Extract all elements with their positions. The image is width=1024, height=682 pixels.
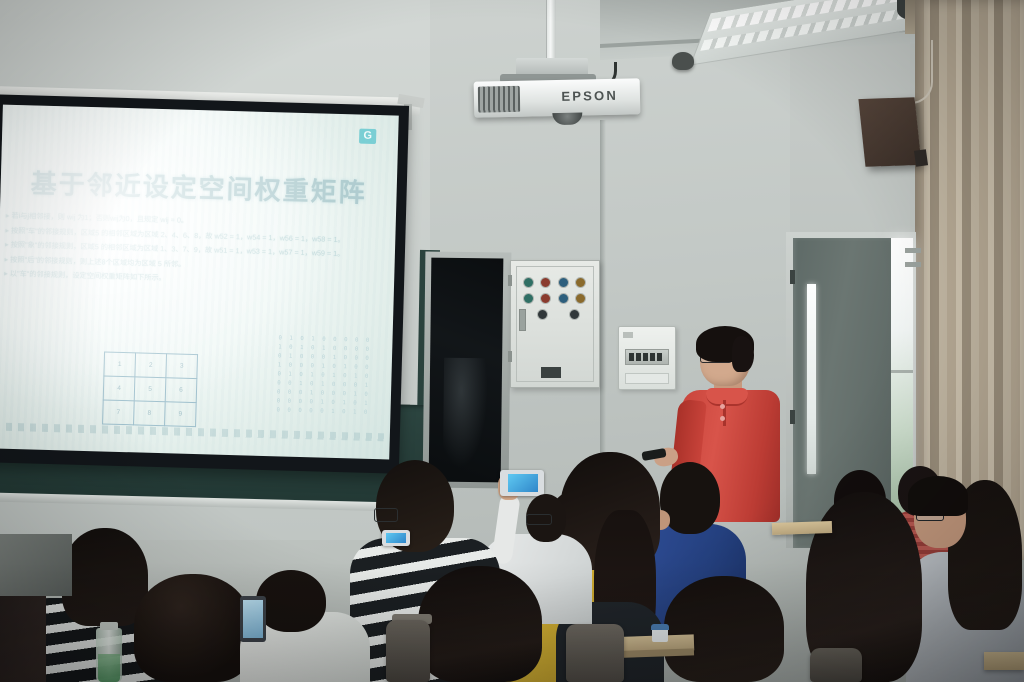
matrix-row: 0 0 0 0 0 1 0 1 0 [276, 407, 369, 419]
bottle-cap[interactable] [100, 622, 118, 630]
presenter-button [720, 404, 725, 409]
student-curly-left [134, 574, 252, 682]
indicator-lamp-green [523, 293, 534, 304]
grid-cell: 7 [103, 400, 135, 425]
meter-terminal-cover [625, 373, 669, 384]
projector-brand-label: EPSON [561, 88, 618, 104]
meter-terminal [623, 332, 633, 338]
ceiling-sensor-icon [672, 52, 694, 70]
student-back-center [664, 576, 784, 682]
dark-alcove [429, 258, 504, 483]
speaker-bracket [914, 149, 928, 167]
chair-back [810, 648, 862, 682]
water-bottle[interactable] [96, 628, 122, 682]
panel-hinge-icon [508, 351, 512, 362]
slide-logo-icon: G [359, 129, 376, 144]
slide-bullet-list: 若i与j相邻接，则 wij 为1；否则wij为0，且规定 wij = 0。 按照… [4, 210, 378, 293]
grid-cell: 1 [104, 352, 136, 377]
indicator-lamp-red [540, 293, 551, 304]
student-desk [984, 652, 1024, 670]
meter-digit [636, 353, 641, 361]
meter-digit [629, 353, 634, 361]
smartphone-secondary[interactable] [382, 530, 410, 546]
meter-digit [643, 353, 648, 361]
indicator-lamp-blue [558, 277, 569, 288]
presenter-button [720, 416, 725, 421]
student-hair [664, 576, 784, 682]
panel-knob[interactable] [537, 309, 548, 320]
grid-cell: 8 [134, 401, 166, 426]
door-hinge-icon [790, 270, 795, 284]
wall-fixture [905, 262, 921, 267]
door-glass-strip [807, 284, 816, 474]
student-head [256, 570, 326, 632]
classroom-photo: EPSON G 基于邻近设定空间权重矩阵 若i与j相邻接，则 wij 为1；否则… [0, 0, 1024, 682]
meter-digit [657, 353, 662, 361]
chair-back [566, 624, 624, 682]
speaker-cable [905, 40, 933, 104]
side-cabinet [0, 534, 72, 596]
panel-indicator-lights [523, 277, 587, 304]
student-hair [418, 566, 542, 682]
eyeglasses-icon [526, 514, 552, 525]
cup-lid [651, 624, 669, 630]
electrical-panel[interactable] [510, 260, 600, 388]
grid-cell: 5 [134, 377, 166, 402]
slide-weight-matrix: 0 1 0 1 0 0 0 0 0 1 0 1 0 1 0 0 0 0 0 1 … [276, 334, 371, 418]
grid-row: 4 5 6 [103, 376, 197, 403]
smartphone[interactable] [500, 470, 544, 496]
cup[interactable] [652, 628, 668, 642]
grid-row: 1 2 3 [104, 352, 198, 379]
indicator-lamp-blue [558, 293, 569, 304]
grid-cell: 3 [166, 354, 198, 379]
student-desk [772, 521, 832, 535]
indicator-lamp-red [540, 277, 551, 288]
grid-cell: 6 [165, 378, 197, 403]
slide-region-grid: 1 2 3 4 5 6 7 8 9 [102, 351, 198, 427]
student-gray-right [906, 470, 1024, 682]
student-hair [134, 574, 252, 682]
projected-slide: G 基于邻近设定空间权重矩阵 若i与j相邻接，则 wij 为1；否则wij为0，… [0, 105, 399, 460]
panel-nameplate [541, 367, 561, 378]
tablet-device[interactable] [240, 596, 266, 642]
bottle-liquid [98, 654, 120, 682]
wall-fixture [905, 248, 921, 253]
phone-screen [508, 474, 538, 492]
grid-cell: 4 [103, 376, 135, 401]
eyeglasses-icon [374, 508, 398, 522]
grid-cell: 2 [135, 353, 167, 378]
panel-hinge-icon [508, 275, 512, 286]
panel-knob[interactable] [569, 309, 580, 320]
projector-vent-icon [478, 86, 521, 113]
projection-screen: G 基于邻近设定空间权重矩阵 若i与j相邻接，则 wij 为1；否则wij为0，… [0, 94, 409, 474]
door-hinge-icon [790, 410, 795, 424]
indicator-lamp-amber [575, 293, 586, 304]
slide-title: 基于邻近设定空间权重矩阵 [30, 163, 361, 209]
presenter-hair-side [732, 336, 754, 372]
grid-row: 7 8 9 [103, 400, 197, 427]
chair-back [386, 620, 430, 682]
indicator-lamp-amber [575, 277, 586, 288]
grid-cell: 9 [165, 402, 197, 427]
tablet-screen [243, 600, 263, 638]
student-longhair-center [418, 566, 542, 682]
meter-digit [650, 353, 655, 361]
window-mullion [891, 370, 913, 373]
projector-mount-pole [546, 0, 556, 62]
epson-projector: EPSON [474, 78, 641, 117]
electric-meter [618, 326, 676, 390]
phone-screen [386, 533, 406, 543]
wall-speaker [858, 97, 921, 167]
meter-display [625, 349, 669, 365]
indicator-lamp-green [523, 277, 534, 288]
panel-switch[interactable] [519, 309, 526, 331]
presenter-collar [706, 388, 748, 406]
